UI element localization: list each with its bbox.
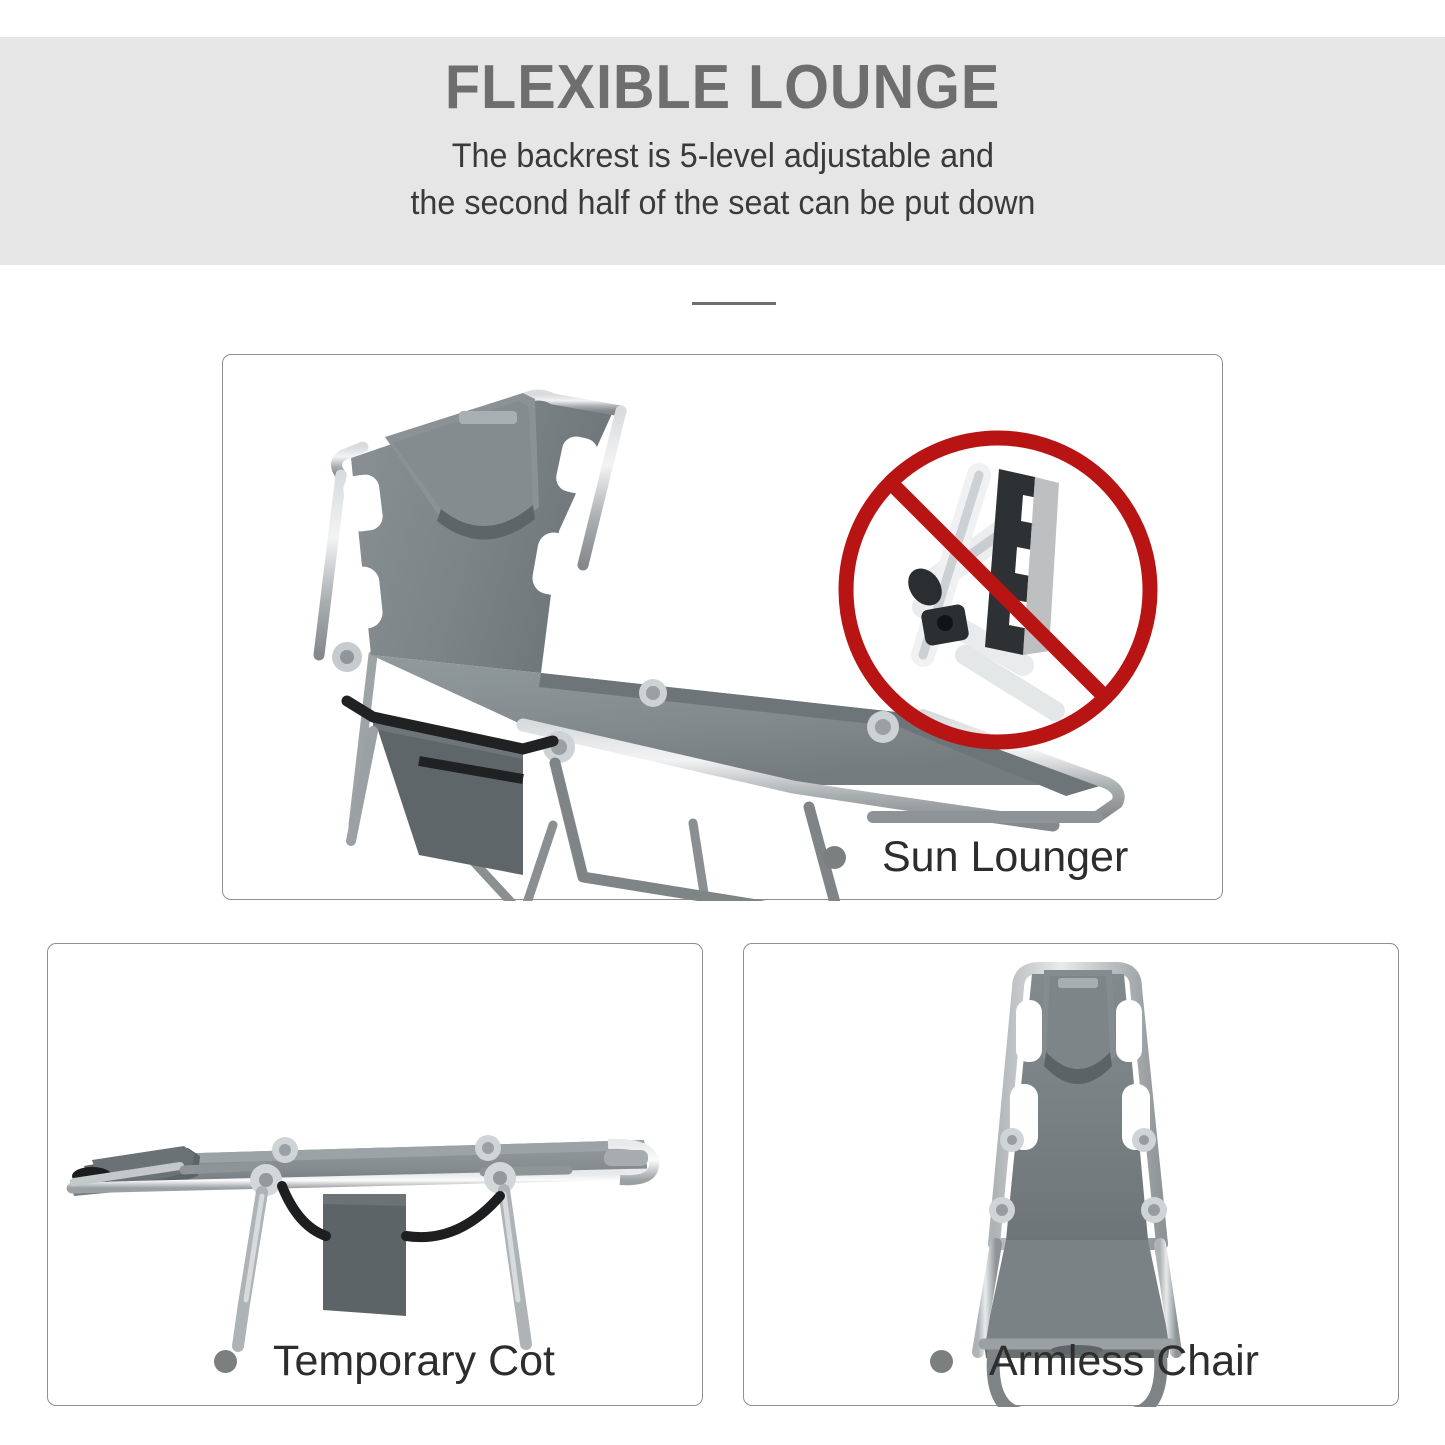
caption-temporary-cot: Temporary Cot <box>214 1340 555 1383</box>
sun-lounger-illustration <box>223 355 1222 899</box>
caption-label: Temporary Cot <box>273 1340 555 1383</box>
product-card-armless-chair[interactable]: Armless Chair <box>743 943 1399 1406</box>
temporary-cot-illustration <box>48 944 702 1405</box>
header-band: FLEXIBLE LOUNGE The backrest is 5-level … <box>0 37 1445 265</box>
page-subtitle-line-1: The backrest is 5-level adjustable and <box>410 133 1035 180</box>
caption-label: Sun Lounger <box>882 836 1128 879</box>
bullet-dot-icon <box>214 1350 237 1373</box>
bullet-dot-icon <box>930 1350 953 1373</box>
caption-armless-chair: Armless Chair <box>930 1340 1259 1383</box>
section-divider <box>692 302 776 305</box>
caption-label: Armless Chair <box>989 1340 1259 1383</box>
product-card-temporary-cot[interactable]: Temporary Cot <box>47 943 703 1406</box>
caption-sun-lounger: Sun Lounger <box>823 836 1128 879</box>
page-title: FLEXIBLE LOUNGE <box>445 56 1000 119</box>
page-subtitle: The backrest is 5-level adjustable and t… <box>410 133 1035 227</box>
product-card-sun-lounger[interactable]: Sun Lounger <box>222 354 1223 900</box>
bullet-dot-icon <box>823 846 846 869</box>
page-subtitle-line-2: the second half of the seat can be put d… <box>410 180 1035 227</box>
armless-chair-illustration <box>744 944 1398 1405</box>
prohibition-badge-group <box>846 438 1150 742</box>
